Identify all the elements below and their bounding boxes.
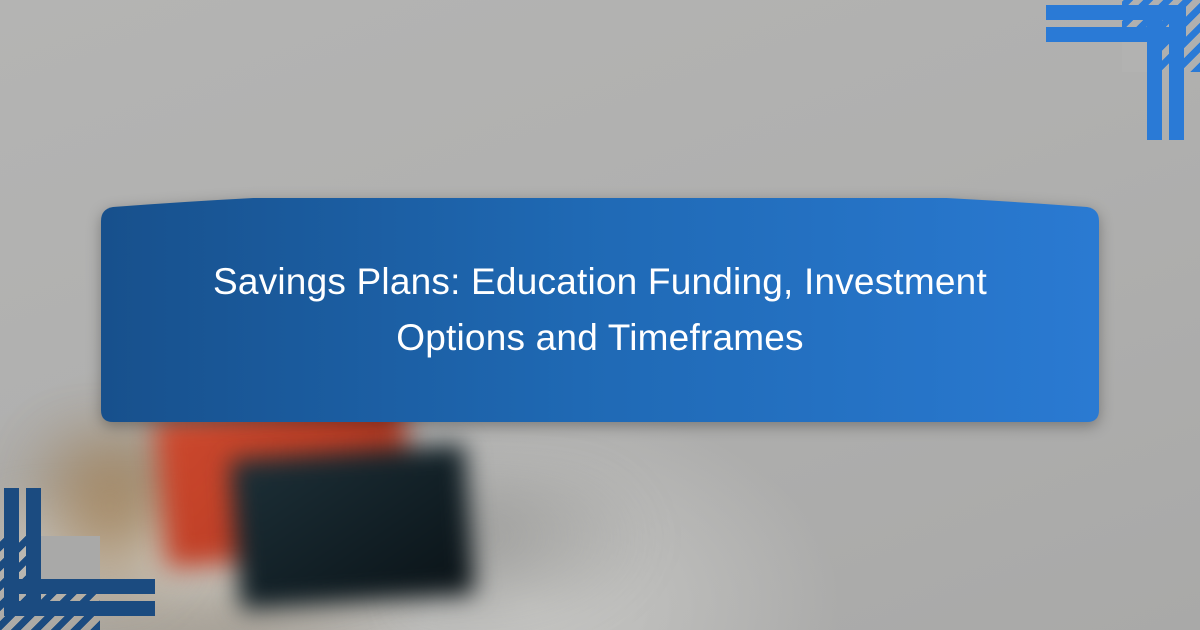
bottom-left-bar-horizontal-2 (4, 601, 155, 616)
title-banner: Savings Plans: Education Funding, Invest… (101, 198, 1099, 422)
banner-canvas: Savings Plans: Education Funding, Invest… (0, 0, 1200, 630)
top-right-bar-horizontal-1 (1046, 5, 1186, 20)
banner-title-line-2: Options and Timeframes (396, 310, 803, 366)
top-right-bar-horizontal-2 (1046, 27, 1186, 42)
bottom-left-corner-bracket (0, 470, 170, 630)
banner-title-line-1: Savings Plans: Education Funding, Invest… (213, 254, 987, 310)
bottom-left-bar-horizontal-1 (4, 579, 155, 594)
background-dark-book (230, 444, 475, 610)
banner-title-block: Savings Plans: Education Funding, Invest… (101, 198, 1099, 422)
top-right-corner-bracket (1040, 0, 1200, 150)
bottom-left-hatch-mask (41, 536, 100, 579)
top-right-bar-vertical-1 (1147, 5, 1162, 140)
top-right-bar-vertical-2 (1169, 5, 1184, 140)
